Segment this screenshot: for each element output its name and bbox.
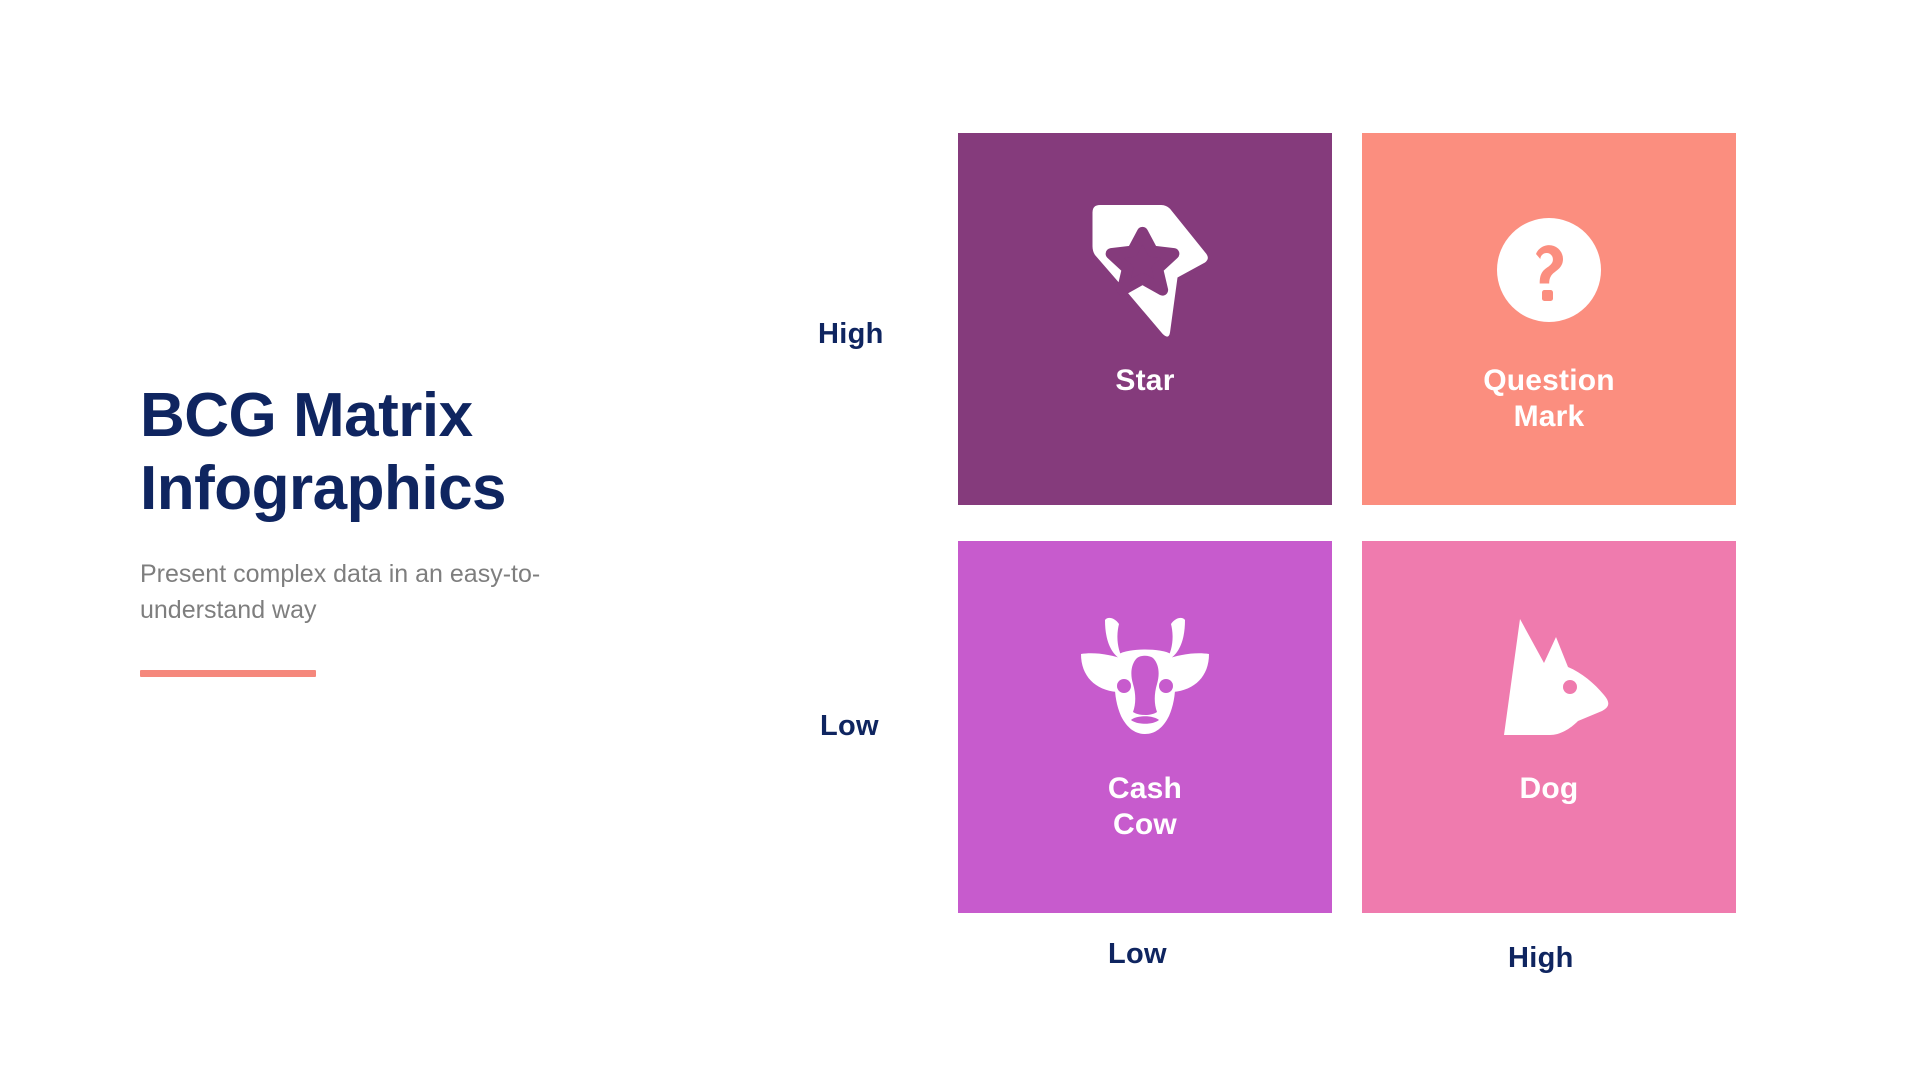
question-circle-icon (1489, 195, 1609, 345)
accent-divider (140, 670, 316, 677)
quadrant-label-question-mark: Question Mark (1483, 363, 1615, 435)
page-subtitle: Present complex data in an easy-to-under… (140, 557, 610, 628)
axis-x-label-low: Low (1108, 938, 1167, 971)
bcg-matrix: Star Question Mark (958, 133, 1796, 913)
quadrant-question-mark[interactable]: Question Mark (1362, 133, 1736, 505)
quadrant-star[interactable]: Star (958, 133, 1332, 505)
quadrant-label-dog: Dog (1520, 771, 1579, 807)
cow-head-icon (1075, 603, 1215, 753)
quadrant-label-cash-cow: Cash Cow (1108, 771, 1182, 843)
quadrant-label-star: Star (1115, 363, 1174, 399)
title-panel: BCG Matrix Infographics Present complex … (140, 380, 660, 677)
axis-y-label-high: High (818, 318, 884, 351)
quadrant-dog[interactable]: Dog (1362, 541, 1736, 913)
dog-head-icon (1482, 603, 1617, 753)
star-tag-icon (1070, 195, 1220, 345)
axis-y-label-low: Low (820, 710, 879, 743)
axis-x-label-high: High (1508, 942, 1574, 975)
page-title: BCG Matrix Infographics (140, 380, 660, 525)
quadrant-cash-cow[interactable]: Cash Cow (958, 541, 1332, 913)
